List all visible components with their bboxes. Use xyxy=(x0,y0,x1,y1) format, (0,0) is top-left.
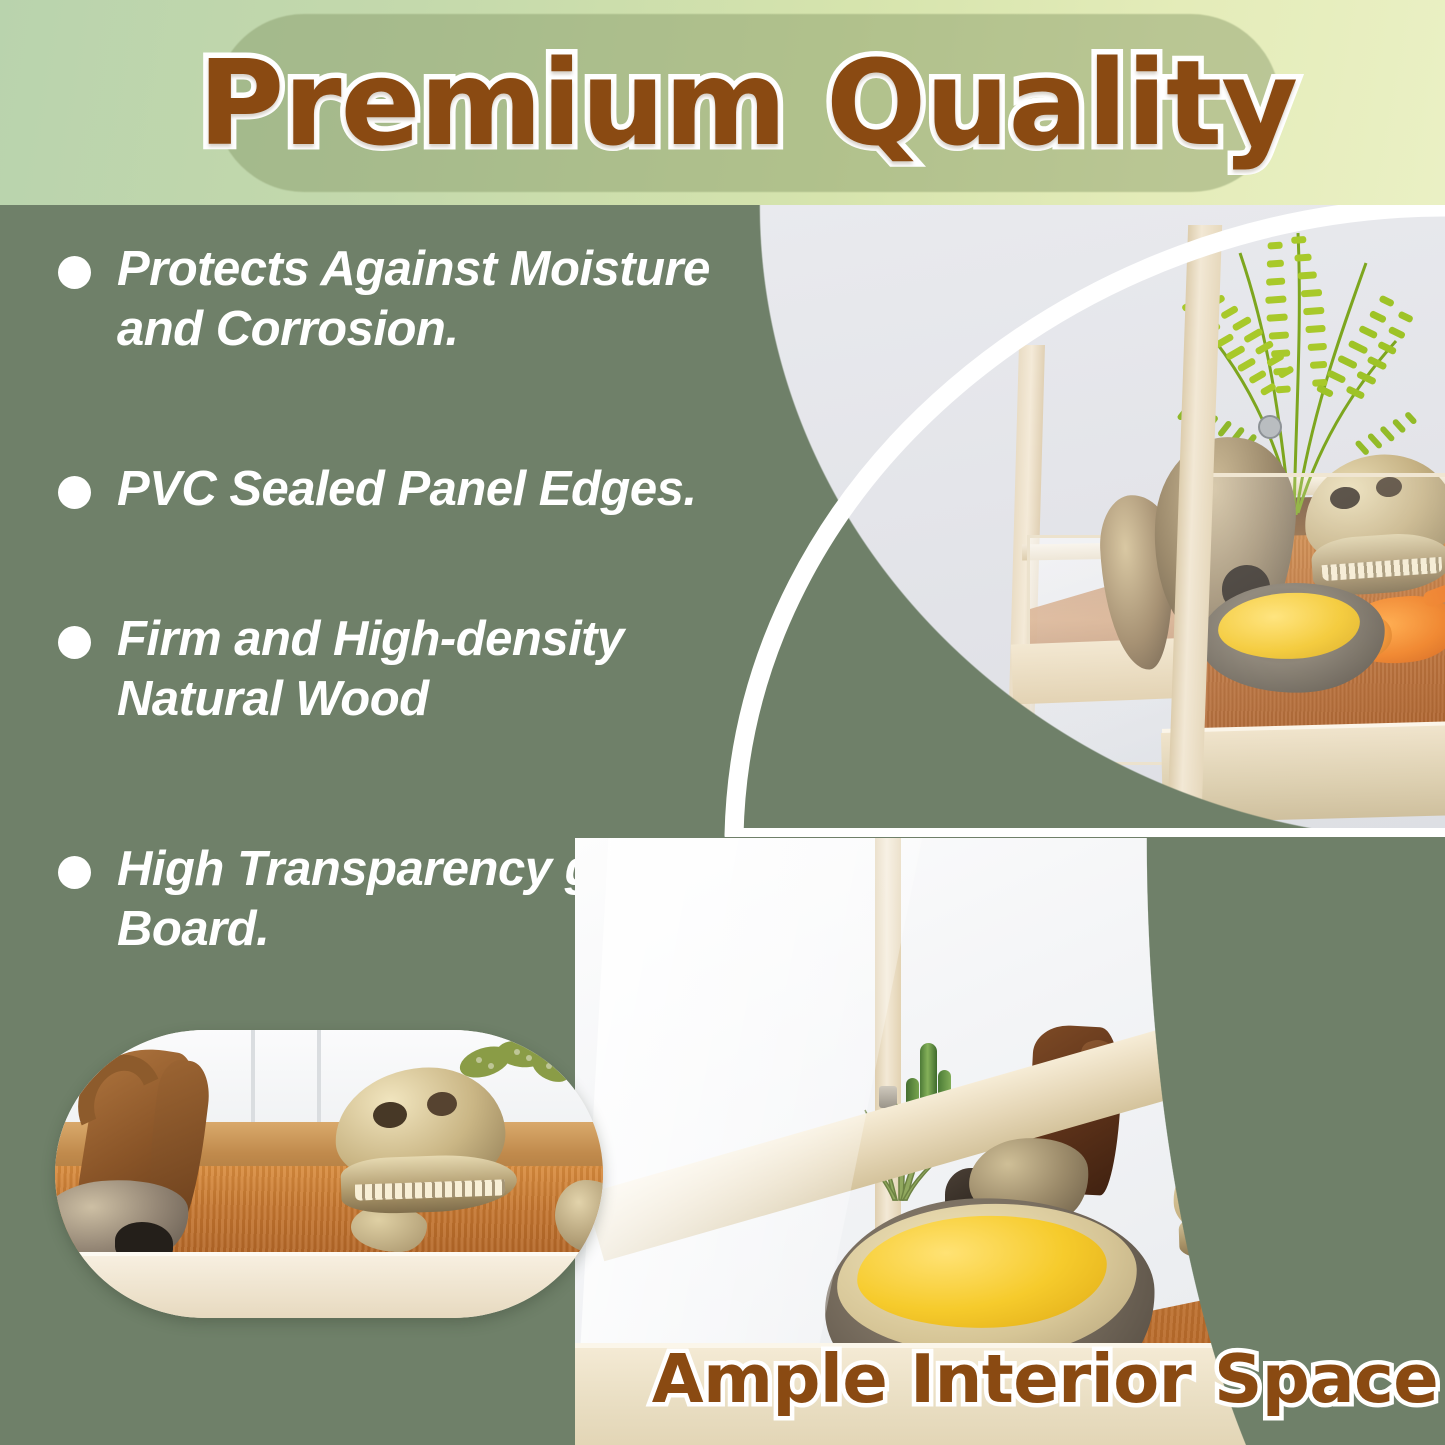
list-item: Firm and High-density Natural Wood xyxy=(58,610,758,730)
list-item: Protects Against Moisture and Corrosion. xyxy=(58,240,758,360)
product-photo-top-right xyxy=(722,205,1445,837)
bullet-dot-icon xyxy=(58,256,91,289)
inset-base-board xyxy=(55,1256,603,1318)
page-title: Premium Quality xyxy=(215,14,1280,192)
bullet-dot-icon xyxy=(58,626,91,659)
infographic-canvas: Premium Quality Protects Against Moistur… xyxy=(0,0,1445,1445)
photo-top-content xyxy=(722,205,1445,837)
bullet-dot-icon xyxy=(58,856,91,889)
bullet-dot-icon xyxy=(58,476,91,509)
feature-text: Firm and High-density Natural Wood xyxy=(117,610,758,730)
feature-text: PVC Sealed Panel Edges. xyxy=(117,460,696,520)
glass-panel-front xyxy=(1188,473,1445,763)
header-banner: Premium Quality xyxy=(0,0,1445,205)
feature-text: Protects Against Moisture and Corrosion. xyxy=(117,240,758,360)
cabinet-shelf-left xyxy=(1011,637,1198,704)
product-photo-inset-oval xyxy=(55,1030,603,1318)
list-item: PVC Sealed Panel Edges. xyxy=(58,460,758,520)
bottom-caption: Ample Interior Space xyxy=(660,1336,1430,1422)
